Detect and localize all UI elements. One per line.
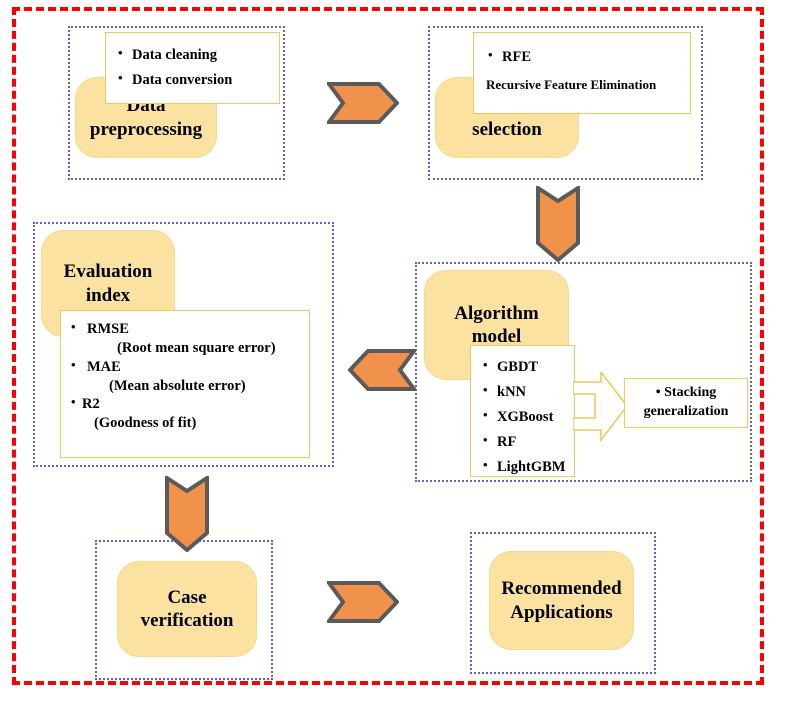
list-item: RMSE (Root mean square error) [69,320,309,358]
detail-algorithm-model-list: GBDT kNN XGBoost RF LightGBM [481,355,574,480]
list-item: RF [481,430,574,455]
stage-evaluation-index-line2: index [64,284,153,307]
stage-recommended-applications-line1: Recommended [501,577,621,600]
stage-case-verification-line2: verification [141,609,234,632]
detail-feature-selection-subtitle: Recursive Feature Elimination [486,74,690,96]
list-item: RFE [486,45,690,70]
metric-name: R2 [82,396,100,412]
arrow-algorithm-model-to-evaluation-index [348,348,416,392]
metric-name: MAE [87,359,121,375]
stage-data-preprocessing-line2: preprocessing [90,118,202,141]
arrow-case-verification-to-recommended-applications [327,581,399,623]
arrow-feature-selection-to-algorithm-model [536,186,580,262]
arrow-preprocessing-to-feature-selection [327,82,399,124]
stage-recommended-applications[interactable]: Recommended Applications [489,551,634,650]
metric-name: RMSE [87,321,129,337]
list-item: Data conversion [116,68,279,93]
stage-evaluation-index-line1: Evaluation [64,260,153,283]
detail-stacking-generalization: • Stacking generalization [624,378,748,428]
stage-case-verification-line1: Case [141,586,234,609]
stacking-generalization-line1: • Stacking [644,384,729,403]
bullet-icon: • [656,385,661,400]
arrow-evaluation-index-to-case-verification [165,476,209,552]
detail-feature-selection: RFE Recursive Feature Elimination [473,32,691,114]
detail-data-preprocessing: Data cleaning Data conversion [105,32,280,104]
metric-expansion: (Root mean square error) [87,339,309,358]
detail-evaluation-index-list: RMSE (Root mean square error) MAE (Mean … [69,320,309,433]
detail-evaluation-index: RMSE (Root mean square error) MAE (Mean … [60,310,310,458]
detail-algorithm-model: GBDT kNN XGBoost RF LightGBM [470,345,575,477]
diagram-canvas: Data preprocessing Data cleaning Data co… [0,0,786,712]
list-item: XGBoost [481,405,574,430]
stage-algorithm-model-line1: Algorithm [454,302,538,325]
stage-recommended-applications-line2: Applications [501,601,621,624]
list-item: GBDT [481,355,574,380]
list-item: Data cleaning [116,43,279,68]
list-item: kNN [481,380,574,405]
stage-feature-selection-line2: selection [472,118,542,141]
stacking-generalization-line2: generalization [644,403,729,422]
stage-case-verification[interactable]: Case verification [117,561,257,657]
metric-expansion: (Goodness of fit) [82,414,309,433]
detail-data-preprocessing-list: Data cleaning Data conversion [116,43,279,94]
models-to-stacking-generalization-arrow [573,372,629,472]
list-item: R2 (Goodness of fit) [69,395,309,433]
list-item: LightGBM [481,455,574,480]
metric-expansion: (Mean absolute error) [87,377,309,396]
list-item: MAE (Mean absolute error) [69,358,309,396]
detail-feature-selection-list: RFE [486,45,690,70]
